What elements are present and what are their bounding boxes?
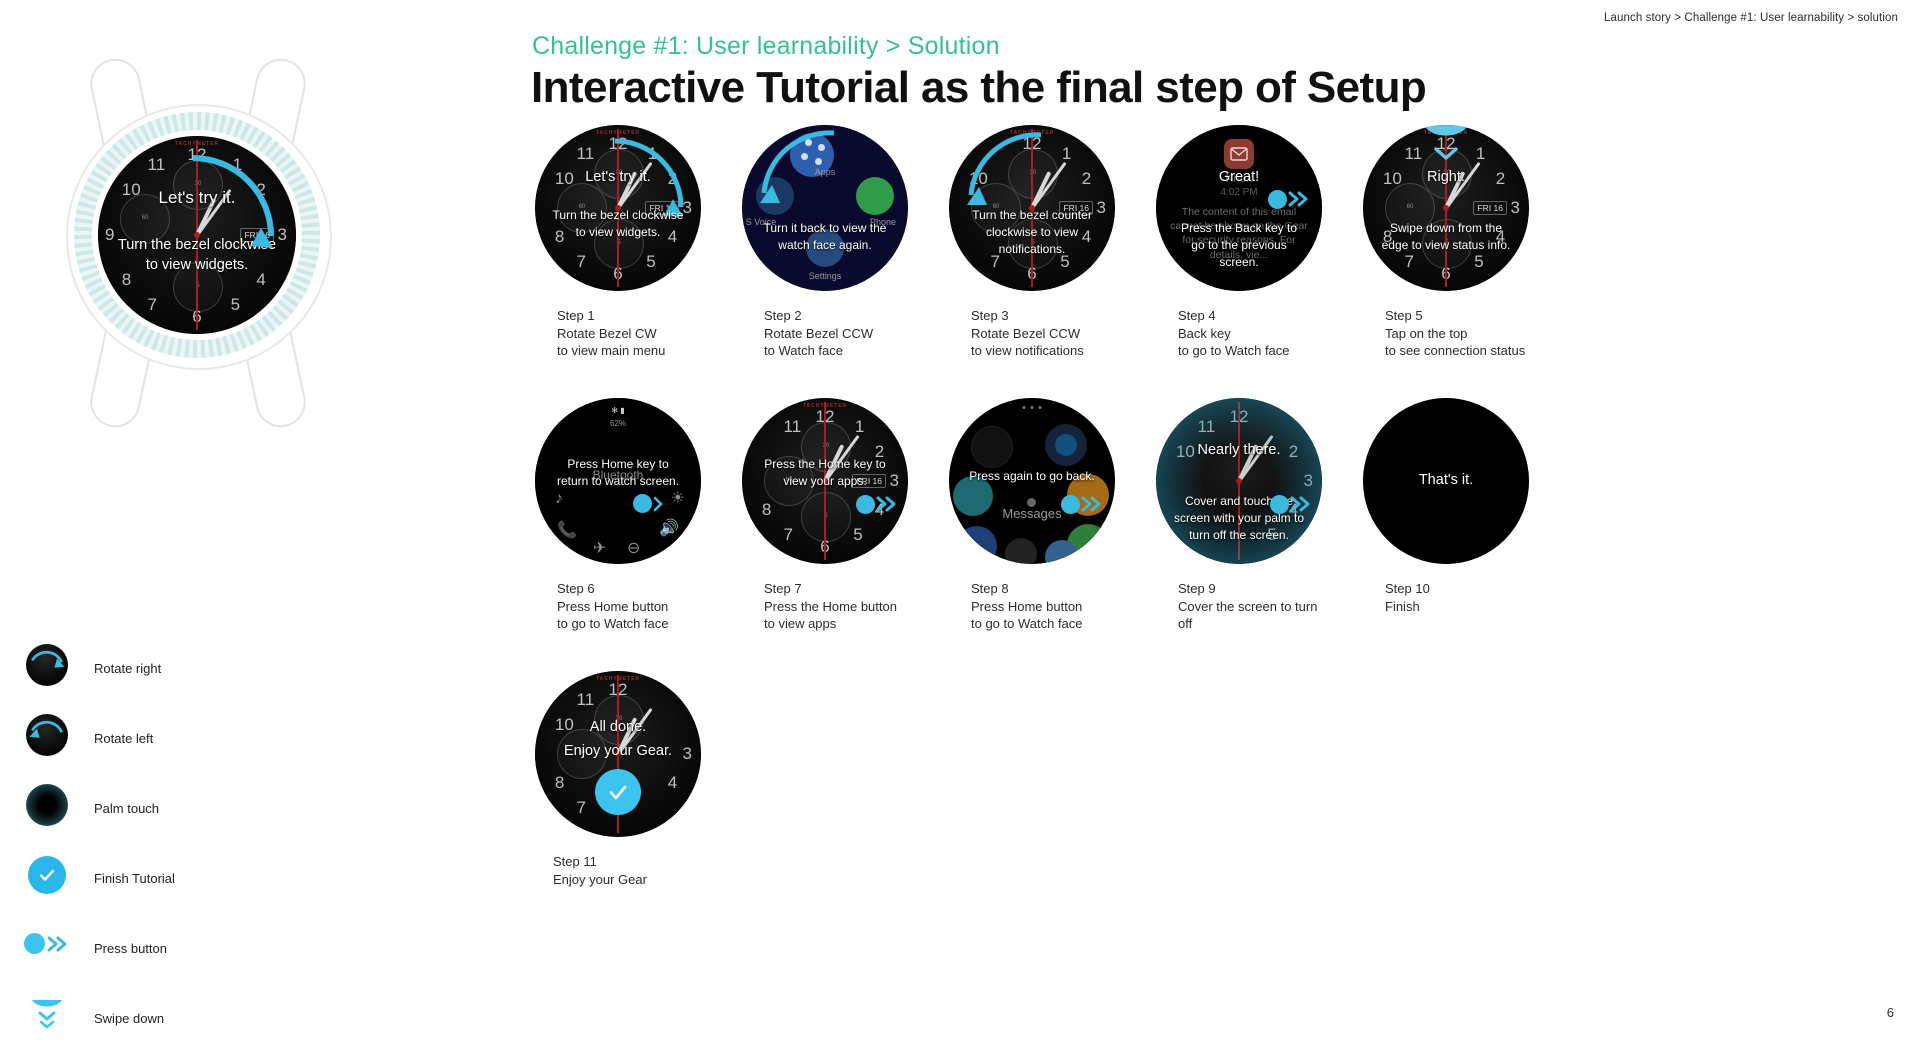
hero-watch-illustration: TACHYMETER 12 1 2 3 4 5 6 7 8 9 10 11 30… [18, 40, 378, 440]
subdial-left-label: 60 [1386, 204, 1434, 210]
do-not-disturb-icon[interactable]: ⊖ [627, 538, 640, 558]
numeral-7: 7 [148, 295, 157, 315]
numeral-7: 7 [577, 252, 586, 272]
step-2-watch-screen[interactable]: Apps S Voice Phone Settings Turn it back… [742, 125, 908, 291]
step-10-caption: Step 10 Finish [1385, 580, 1565, 615]
chevron-double-right-icon [653, 495, 675, 513]
subdial-bottom-label: 5 [595, 240, 643, 246]
app-icon-settings[interactable] [957, 526, 997, 564]
step-card-11: TACHYMETER 12 3 4 7 8 10 11 30 60 All do… [531, 671, 738, 888]
numeral-11: 11 [1405, 144, 1423, 164]
email-icon [1224, 139, 1254, 169]
legend-label-rotate-left: Rotate left [94, 731, 153, 746]
step-4-watch-screen[interactable]: Knox 4:02 PM The content of this email c… [1156, 125, 1322, 291]
step-8-caption: Step 8 Press Home button to go to Watch … [971, 580, 1151, 633]
step-1-overlay-title: Let's try it. [535, 169, 701, 185]
step-1-caption: Step 1 Rotate Bezel CW to view main menu [557, 307, 737, 360]
step-card-5: TACHYMETER 12 1 2 3 4 5 6 7 8 10 11 30 6… [1359, 125, 1566, 360]
overlay-line-1: Turn the bezel clockwise [543, 207, 693, 224]
rotate-left-icon [22, 710, 78, 766]
steps-row-3: TACHYMETER 12 3 4 7 8 10 11 30 60 All do… [531, 671, 1920, 888]
step-6-watch-screen[interactable]: ✻ ▮ 62% Bluetooth ♪ ☀ 📞 🔊 ✈ ⊖ [535, 398, 701, 564]
battery-percent: 62% [535, 419, 701, 428]
step-5-desc-line2: to see connection status [1385, 342, 1585, 360]
legend-item-press-button: Press button [22, 920, 352, 976]
step-6-caption: Step 6 Press Home button to go to Watch … [557, 580, 737, 633]
step-card-10: That's it. Step 10 Finish [1359, 398, 1566, 633]
vibrate-icon[interactable]: 🔊 [659, 518, 679, 538]
overlay-line-1: Enjoy your Gear. [543, 741, 693, 761]
subdial-left-label: 60 [121, 215, 169, 221]
step-10-overlay-title: That's it. [1363, 472, 1529, 488]
legend-item-rotate-left: Rotate left [22, 710, 352, 766]
hero-screen-body-line1: Turn the bezel clockwise [104, 236, 290, 256]
app-label-settings: Settings [742, 271, 908, 281]
step-11-overlay-title: All done. [535, 719, 701, 735]
step-1-watch-screen[interactable]: TACHYMETER 12 1 2 3 4 5 6 7 8 10 11 30 6… [535, 125, 701, 291]
app-label-apps: Apps [742, 167, 908, 177]
overlay-line-1: Turn the bezel counter [957, 207, 1107, 224]
section-kicker: Challenge #1: User learnability > Soluti… [532, 32, 1000, 61]
numeral-11: 11 [577, 690, 595, 710]
legend-label-press-button: Press button [94, 941, 167, 956]
step-card-1: TACHYMETER 12 1 2 3 4 5 6 7 8 10 11 30 6… [531, 125, 738, 360]
step-1-overlay-body: Turn the bezel clockwise to view widgets… [543, 207, 693, 241]
subdial-bottom-label: 5 [174, 283, 222, 289]
numeral-11: 11 [784, 417, 802, 437]
numeral-7: 7 [577, 798, 586, 818]
app-icon-dot-4 [815, 158, 822, 165]
rotate-right-icon [22, 640, 78, 696]
numeral-1: 1 [648, 144, 657, 164]
steps-row-1: TACHYMETER 12 1 2 3 4 5 6 7 8 10 11 30 6… [531, 125, 1920, 360]
step-8-watch-screen[interactable]: Messages Press again to go back. [949, 398, 1115, 564]
hero-watch-screen[interactable]: TACHYMETER 12 1 2 3 4 5 6 7 8 9 10 11 30… [98, 136, 296, 334]
numeral-1: 1 [855, 417, 864, 437]
overlay-line-2: go to the previous [1164, 237, 1314, 254]
step-11-watch-screen[interactable]: TACHYMETER 12 3 4 7 8 10 11 30 60 All do… [535, 671, 701, 837]
step-10-desc-line1: Finish [1385, 598, 1565, 616]
step-card-2: Apps S Voice Phone Settings Turn it back… [738, 125, 945, 360]
step-1-desc-line2: to view main menu [557, 342, 737, 360]
app-icon-directv[interactable] [1005, 538, 1037, 564]
swipe-down-icon [22, 990, 78, 1046]
step-3-overlay-body: Turn the bezel counter clockwise to view… [957, 207, 1107, 257]
numeral-1: 1 [1062, 144, 1071, 164]
press-button-icon [856, 494, 902, 514]
step-card-6: ✻ ▮ 62% Bluetooth ♪ ☀ 📞 🔊 ✈ ⊖ [531, 398, 738, 633]
press-button-icon [1268, 189, 1314, 209]
step-9-watch-screen[interactable]: 12 2 3 4 5 10 11 Nearly there. [1156, 398, 1322, 564]
step-4-caption: Step 4 Back key to go to Watch face [1178, 307, 1358, 360]
step-10-number: Step 10 [1385, 580, 1565, 598]
numeral-11: 11 [577, 144, 595, 164]
step-11-overlay-body: Enjoy your Gear. [543, 741, 693, 761]
step-2-desc-line1: Rotate Bezel CCW [764, 325, 944, 343]
step-8-overlay-body: Press again to go back. [957, 468, 1107, 485]
overlay-line-2: edge to view status info. [1371, 237, 1521, 254]
airplane-mode-icon[interactable]: ✈ [593, 538, 606, 558]
hero-watch-body: TACHYMETER 12 1 2 3 4 5 6 7 8 9 10 11 30… [36, 58, 360, 422]
overlay-line-1: Press Home key to [543, 456, 693, 473]
step-9-overlay-title: Nearly there. [1156, 442, 1322, 458]
check-icon [37, 865, 57, 885]
step-7-caption: Step 7 Press the Home button to view app… [764, 580, 944, 633]
overlay-line-2: to view widgets. [543, 224, 693, 241]
step-7-number: Step 7 [764, 580, 944, 598]
bluetooth-icon: ✻ [611, 406, 618, 415]
step-10-watch-screen[interactable]: That's it. [1363, 398, 1529, 564]
legend-item-swipe-down: Swipe down [22, 990, 352, 1046]
step-3-caption: Step 3 Rotate Bezel CCW to view notifica… [971, 307, 1151, 360]
numeral-2: 2 [1082, 169, 1091, 189]
step-9-number: Step 9 [1178, 580, 1358, 598]
numeral-8: 8 [555, 773, 564, 793]
numeral-5: 5 [646, 252, 655, 272]
step-4-number: Step 4 [1178, 307, 1358, 325]
legend-label-swipe-down: Swipe down [94, 1011, 164, 1026]
subdial-top-label: 30 [174, 181, 222, 187]
legend-item-palm-touch: Palm touch [22, 780, 352, 836]
step-5-watch-screen[interactable]: TACHYMETER 12 1 2 3 4 5 6 7 8 10 11 30 6… [1363, 125, 1529, 291]
breadcrumb: Launch story > Challenge #1: User learna… [1604, 12, 1898, 24]
step-6-desc-line2: to go to Watch face [557, 615, 737, 633]
hero-screen-title: Let's try it. [98, 188, 296, 208]
step-2-number: Step 2 [764, 307, 944, 325]
overlay-line-3: notifications. [957, 241, 1107, 258]
step-4-desc-line2: to go to Watch face [1178, 342, 1358, 360]
step-9-caption: Step 9 Cover the screen to turn off [1178, 580, 1358, 633]
app-icon-dot-2 [818, 144, 825, 151]
overlay-line-2: watch face again. [750, 237, 900, 254]
step-6-number: Step 6 [557, 580, 737, 598]
app-icon-dot-3 [801, 153, 808, 160]
numeral-1: 1 [1476, 144, 1485, 164]
finish-tutorial-button[interactable] [595, 769, 641, 815]
overlay-line-1: Swipe down from the [1371, 220, 1521, 237]
chevron-double-right-icon [876, 494, 902, 514]
overlay-line-2: return to watch screen. [543, 473, 693, 490]
subdial-bottom-label: 5 [802, 513, 850, 519]
step-4-overlay-title: Great! [1156, 169, 1322, 185]
legend-item-rotate-right: Rotate right [22, 640, 352, 696]
step-card-8: Messages Press again to go back. Step 8 … [945, 398, 1152, 633]
legend-item-finish-tutorial: Finish Tutorial [22, 850, 352, 906]
step-3-number: Step 3 [971, 307, 1151, 325]
swipe-down-glyph-icon [1422, 125, 1470, 167]
step-8-number: Step 8 [971, 580, 1151, 598]
numeral-5: 5 [231, 295, 240, 315]
overlay-line-2: clockwise to view [957, 224, 1107, 241]
step-1-number: Step 1 [557, 307, 737, 325]
step-5-desc-line1: Tap on the top [1385, 325, 1585, 343]
hero-screen-body: Turn the bezel clockwise to view widgets… [104, 236, 290, 275]
page-indicator-dots [1023, 406, 1042, 409]
step-6-desc-line1: Press Home button [557, 598, 737, 616]
legend-label-palm-touch: Palm touch [94, 801, 159, 816]
step-4-overlay-body: Press the Back key to go to the previous… [1164, 220, 1314, 270]
page-title: Interactive Tutorial as the final step o… [531, 63, 1426, 113]
step-11-caption: Step 11 Enjoy your Gear [553, 853, 733, 888]
palm-touch-icon [22, 780, 78, 836]
step-9-desc-line2: off [1178, 615, 1358, 633]
step-7-desc-line2: to view apps [764, 615, 944, 633]
music-note-icon[interactable]: ♪ [555, 490, 563, 508]
numeral-7: 7 [1405, 252, 1414, 272]
finish-tutorial-icon [22, 850, 78, 906]
step-8-desc-line1: Press Home button [971, 598, 1151, 616]
battery-icon: ▮ [620, 406, 624, 415]
press-button-icon [1270, 494, 1316, 514]
app-icon-blue-inner [1055, 434, 1077, 456]
missed-call-icon[interactable]: 📞 [557, 520, 577, 540]
step-card-3: TACHYMETER 12 1 2 3 4 5 6 7 10 30 60 5 F… [945, 125, 1152, 360]
swipe-down-glyph-icon [30, 996, 64, 1032]
overlay-line-1: Press the Home key to [750, 456, 900, 473]
overlay-line-3: screen. [1164, 254, 1314, 271]
step-5-overlay-body: Swipe down from the edge to view status … [1371, 220, 1521, 254]
overlay-line-3: turn off the screen. [1164, 527, 1314, 544]
step-3-desc-line2: to view notifications [971, 342, 1151, 360]
step-3-watch-screen[interactable]: TACHYMETER 12 1 2 3 4 5 6 7 10 30 60 5 F… [949, 125, 1115, 291]
step-11-desc-line1: Enjoy your Gear [553, 871, 733, 889]
chevron-double-right-icon [1290, 494, 1316, 514]
gesture-legend: Rotate right Rotate left Palm touch Fini… [22, 640, 352, 1060]
swipe-down-icon [1422, 125, 1470, 172]
press-button-icon [1061, 494, 1107, 514]
step-7-desc-line1: Press the Home button [764, 598, 944, 616]
step-card-4: Knox 4:02 PM The content of this email c… [1152, 125, 1359, 360]
app-icon-phone[interactable] [856, 177, 894, 215]
step-6-overlay-body: Press Home key to return to watch screen… [543, 456, 693, 490]
step-card-9: 12 2 3 4 5 10 11 Nearly there. [1152, 398, 1359, 633]
step-7-watch-screen[interactable]: TACHYMETER 12 1 2 3 4 5 6 7 8 11 30 60 5… [742, 398, 908, 564]
overlay-line-1: Press the Back key to [1164, 220, 1314, 237]
chevron-double-right-icon [1081, 494, 1107, 514]
chevron-double-right-icon [1288, 189, 1314, 209]
press-button-icon [22, 920, 78, 976]
numeral-7: 7 [784, 525, 793, 545]
app-icon-dot-1 [805, 139, 812, 146]
step-2-caption: Step 2 Rotate Bezel CCW to Watch face [764, 307, 944, 360]
numeral-5: 5 [1474, 252, 1483, 272]
step-11-number: Step 11 [553, 853, 733, 871]
overlay-line-1: Press again to go back. [957, 468, 1107, 485]
press-button-icon [633, 494, 675, 513]
step-card-7: TACHYMETER 12 1 2 3 4 5 6 7 8 11 30 60 5… [738, 398, 945, 633]
numeral-3: 3 [1511, 198, 1520, 218]
status-bar-icons: ✻ ▮ [535, 406, 701, 415]
page-number: 6 [1887, 1005, 1894, 1020]
hero-screen-body-line2: to view widgets. [104, 256, 290, 276]
overlay-line-2: view your apps. [750, 473, 900, 490]
chevron-double-right-icon [47, 934, 73, 954]
numeral-11: 11 [148, 155, 166, 175]
overlay-line-1: Turn it back to view the [750, 220, 900, 237]
step-2-desc-line2: to Watch face [764, 342, 944, 360]
step-7-overlay-body: Press the Home key to view your apps. [750, 456, 900, 490]
step-8-desc-line2: to go to Watch face [971, 615, 1151, 633]
legend-label-finish-tutorial: Finish Tutorial [94, 871, 175, 886]
numeral-1: 1 [233, 155, 242, 175]
check-icon [605, 779, 631, 805]
step-1-desc-line1: Rotate Bezel CW [557, 325, 737, 343]
app-icon-microphone[interactable] [756, 177, 794, 215]
apps-grid-screen: Apps S Voice Phone Settings [742, 125, 908, 291]
legend-label-rotate-right: Rotate right [94, 661, 161, 676]
app-icon-colour-wheel[interactable] [971, 426, 1013, 468]
step-5-number: Step 5 [1385, 307, 1585, 325]
tutorial-steps-grid: TACHYMETER 12 1 2 3 4 5 6 7 8 10 11 30 6… [531, 125, 1920, 888]
date-complication: FRI 16 [1473, 201, 1507, 215]
step-2-overlay-body: Turn it back to view the watch face agai… [750, 220, 900, 254]
step-4-desc-line1: Back key [1178, 325, 1358, 343]
numeral-5: 5 [853, 525, 862, 545]
steps-row-2: ✻ ▮ 62% Bluetooth ♪ ☀ 📞 🔊 ✈ ⊖ [531, 398, 1920, 633]
step-3-desc-line1: Rotate Bezel CCW [971, 325, 1151, 343]
numeral-4: 4 [668, 773, 677, 793]
step-9-desc-line1: Cover the screen to turn [1178, 598, 1358, 616]
step-5-caption: Step 5 Tap on the top to see connection … [1385, 307, 1585, 360]
numeral-8: 8 [762, 500, 771, 520]
